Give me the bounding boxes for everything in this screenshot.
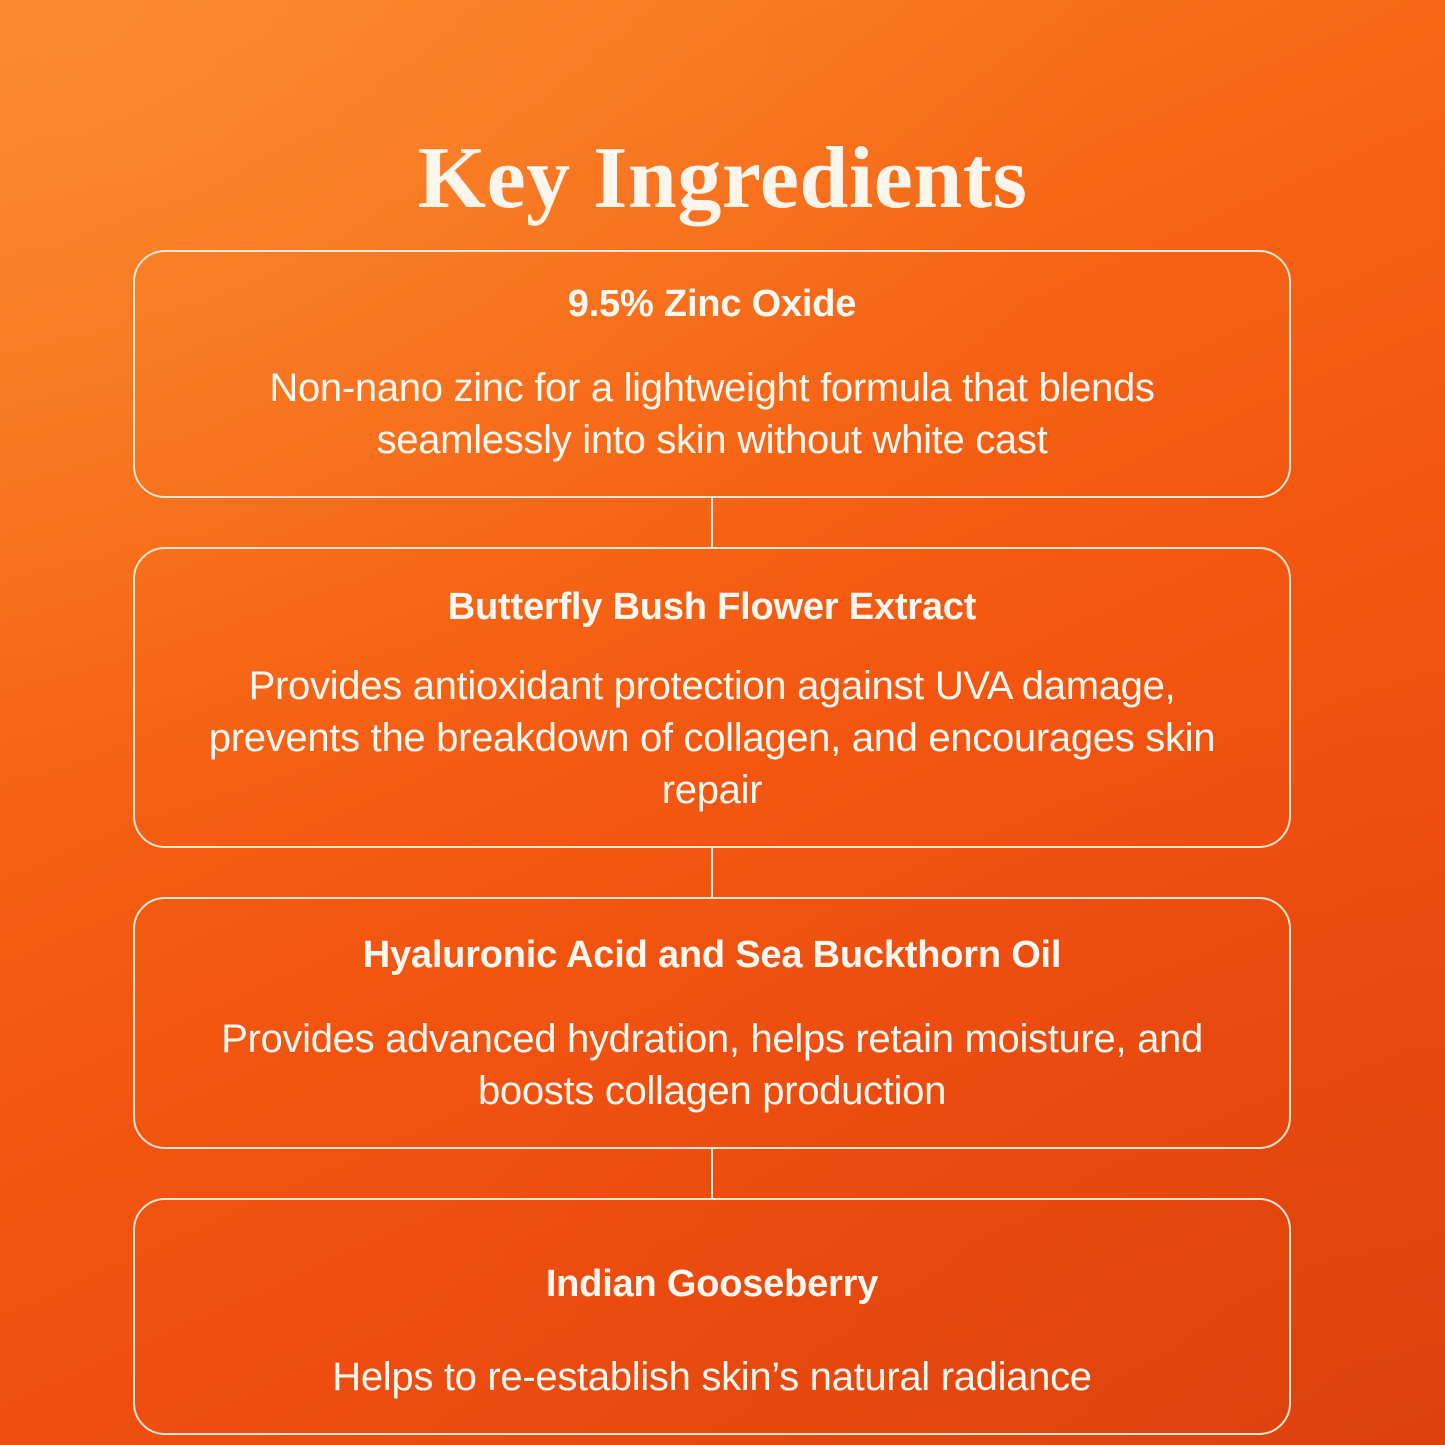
- page-title: Key Ingredients: [0, 135, 1445, 223]
- card-connector-line: [133, 848, 1291, 897]
- ingredient-heading: Butterfly Bush Flower Extract: [181, 585, 1243, 631]
- ingredient-heading: Hyaluronic Acid and Sea Buckthorn Oil: [181, 933, 1243, 979]
- ingredient-heading: Indian Gooseberry: [181, 1262, 1243, 1308]
- ingredient-heading: 9.5% Zinc Oxide: [181, 282, 1243, 328]
- card-connector-line: [133, 1149, 1291, 1198]
- ingredient-description: Helps to re-establish skin’s natural rad…: [181, 1351, 1243, 1403]
- ingredient-card-indian-gooseberry: Indian Gooseberry Helps to re-establish …: [133, 1198, 1291, 1436]
- ingredient-description: Non-nano zinc for a lightweight formula …: [181, 362, 1243, 466]
- ingredient-card-zinc-oxide: 9.5% Zinc Oxide Non-nano zinc for a ligh…: [133, 250, 1291, 498]
- ingredient-description: Provides advanced hydration, helps retai…: [181, 1013, 1243, 1117]
- card-connector-line: [133, 498, 1291, 547]
- ingredient-card-list: 9.5% Zinc Oxide Non-nano zinc for a ligh…: [133, 250, 1291, 1435]
- ingredient-card-butterfly-bush-flower-extract: Butterfly Bush Flower Extract Provides a…: [133, 547, 1291, 849]
- key-ingredients-graphic: Key Ingredients 9.5% Zinc Oxide Non-nano…: [0, 0, 1445, 1445]
- ingredient-card-hyaluronic-acid-sea-buckthorn-oil: Hyaluronic Acid and Sea Buckthorn Oil Pr…: [133, 897, 1291, 1149]
- ingredient-description: Provides antioxidant protection against …: [181, 660, 1243, 816]
